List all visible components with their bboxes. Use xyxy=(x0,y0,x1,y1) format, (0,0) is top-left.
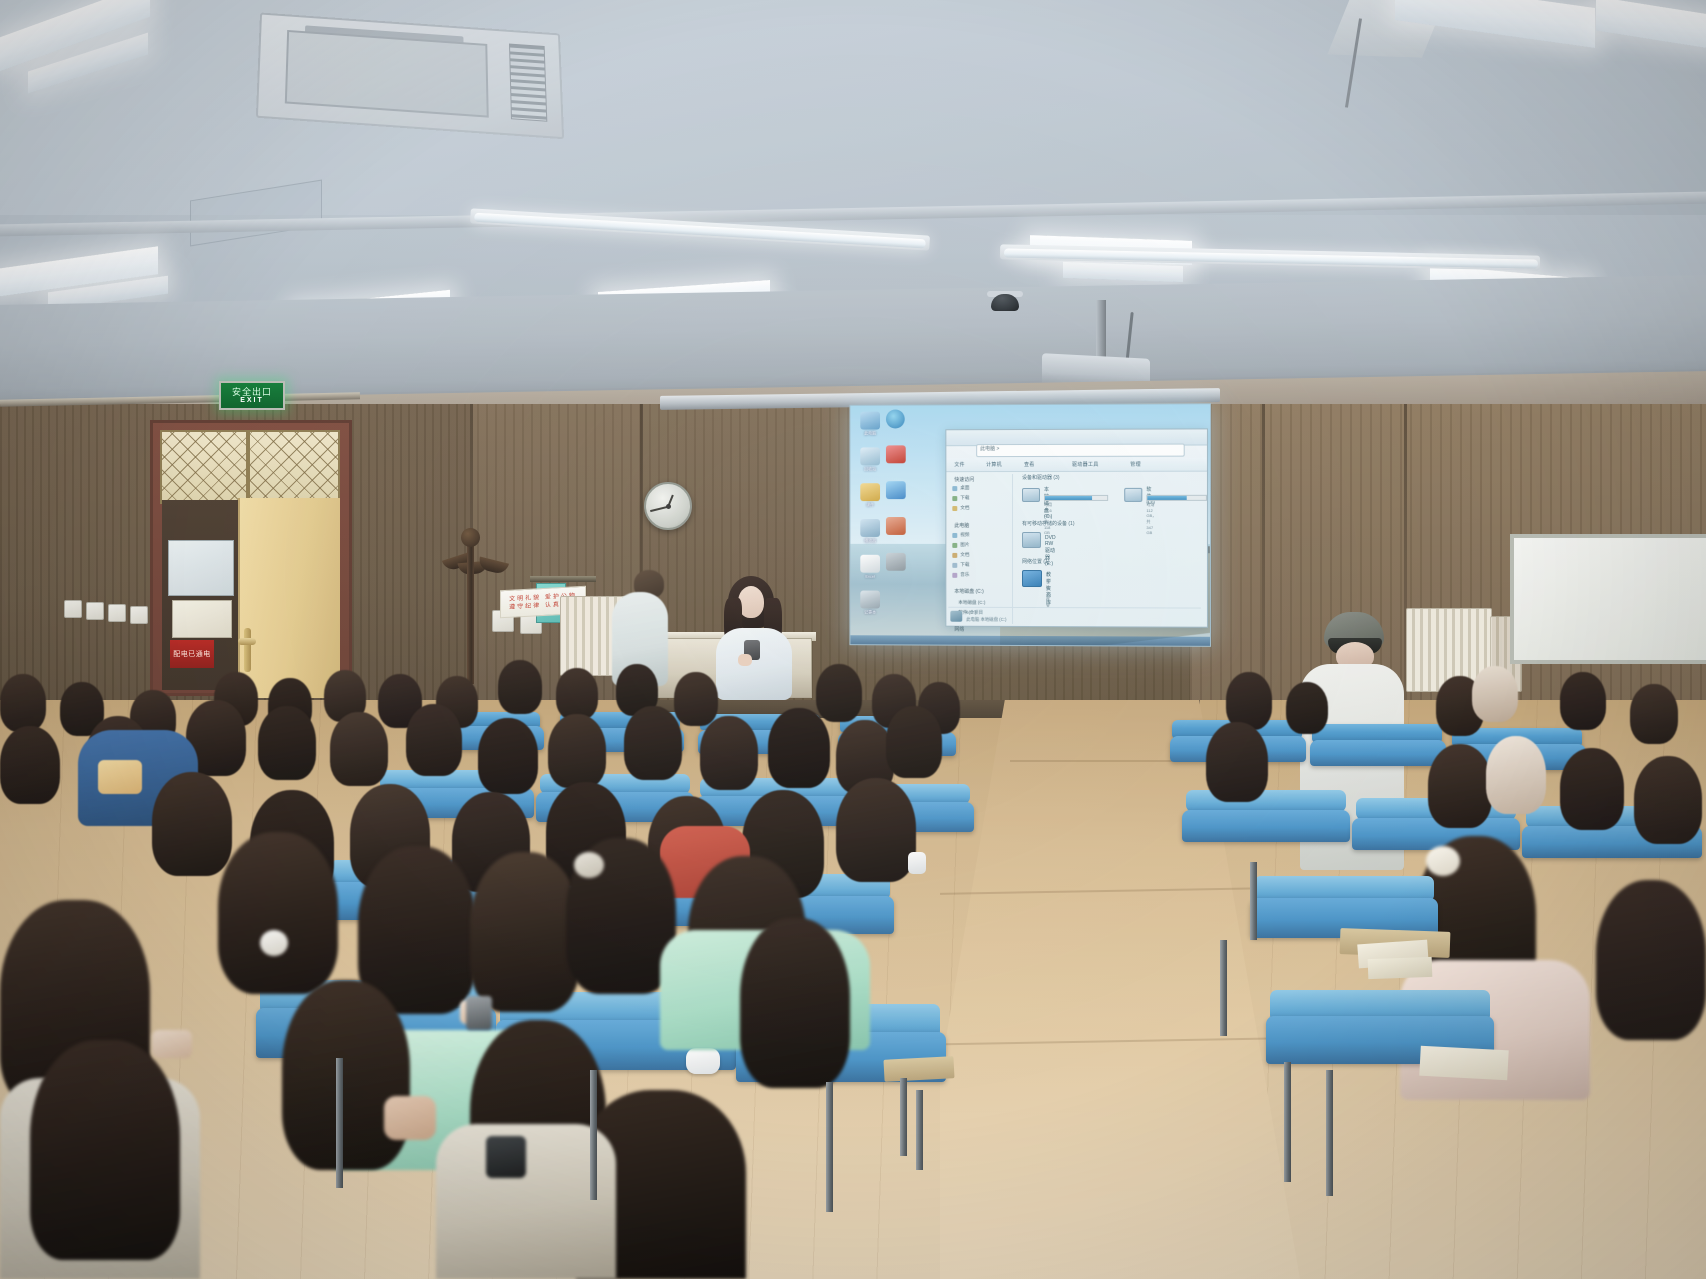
navigation-pane[interactable]: 快速访问 桌面 下载 文档 此电脑 视频 图片 文档 下载 xyxy=(948,474,1013,624)
desk-leg xyxy=(1326,1070,1333,1196)
nav-group-quick-access[interactable]: 快速访问 xyxy=(954,476,974,483)
board-rail xyxy=(530,576,596,582)
nav-item-downloads2[interactable]: 下载 xyxy=(960,562,969,568)
student-head xyxy=(624,706,682,780)
exit-sign: 安全出口 EXIT xyxy=(219,381,285,410)
door-transom-window xyxy=(160,430,340,504)
hair-clip xyxy=(1426,846,1460,876)
hard-drive-icon xyxy=(1022,488,1040,502)
nav-bullet-icon xyxy=(952,486,957,491)
light-switch[interactable] xyxy=(130,606,148,624)
coat-rack-finial xyxy=(461,528,480,547)
seat[interactable] xyxy=(1310,740,1446,766)
qq-icon[interactable] xyxy=(886,445,906,463)
presenter xyxy=(714,576,796,700)
door-red-sign-text: 配电已通电 xyxy=(173,649,211,659)
student-head xyxy=(282,980,410,1170)
paper-sheet xyxy=(1368,957,1433,979)
notice-board xyxy=(168,540,234,596)
ac-grille xyxy=(285,30,489,118)
nav-bullet-icon xyxy=(952,506,957,511)
desk-leg xyxy=(1250,862,1257,940)
clock-center xyxy=(666,504,671,509)
nav-bullet-icon xyxy=(952,553,957,558)
projector-mount-pole xyxy=(1096,300,1106,358)
nav-bullet-icon xyxy=(952,563,957,568)
player-icon[interactable] xyxy=(860,519,880,537)
student-top-cream xyxy=(436,1124,616,1279)
hard-drive-icon xyxy=(1124,488,1142,502)
drive-usage-fill xyxy=(1045,496,1092,500)
nav-bullet-icon xyxy=(952,533,957,538)
desk-top xyxy=(1186,790,1346,812)
ribbon-tab-file[interactable]: 文件 xyxy=(954,461,965,468)
desk-leg xyxy=(1220,940,1227,1036)
student-head xyxy=(700,716,758,790)
student-head xyxy=(0,674,46,732)
student-head xyxy=(1428,744,1492,828)
transom-mullion xyxy=(246,430,250,500)
paper-sheet xyxy=(1419,1046,1508,1081)
student-head xyxy=(1634,756,1702,844)
nav-item-music[interactable]: 音乐 xyxy=(960,572,969,578)
presenter-hand xyxy=(738,654,752,666)
content-pane[interactable]: 设备和驱动器 (3) 本地磁盘 (C:) 可用 28.6 GB，共 118 GB… xyxy=(1016,474,1203,625)
nav-group-network[interactable]: 网络 xyxy=(954,626,964,633)
optical-drive-icon xyxy=(1022,532,1041,548)
student-head xyxy=(406,704,462,776)
student-head xyxy=(1206,722,1268,802)
exit-sign-english: EXIT xyxy=(240,397,264,405)
classroom-door[interactable] xyxy=(238,498,340,698)
drive-subtitle: 系统文件夹 xyxy=(1046,579,1050,609)
earbud-case xyxy=(686,1048,720,1074)
drive-free-space: 可用 28.6 GB，共 118 GB xyxy=(1044,502,1054,535)
desktop-icon-label: 此电脑 xyxy=(857,430,883,436)
wall-clock xyxy=(644,482,692,530)
student-head xyxy=(330,712,388,786)
recycle-bin-icon[interactable] xyxy=(860,447,880,465)
drive-usage-bar xyxy=(1044,495,1108,501)
student-head xyxy=(0,726,60,804)
student-head xyxy=(218,832,338,994)
student-head xyxy=(152,772,232,876)
status-bar: 6 个项目 此电脑 本地磁盘 (C:) xyxy=(948,607,1201,625)
water-bottle xyxy=(908,852,926,874)
desk-leg xyxy=(900,1078,907,1156)
coat-rack xyxy=(467,536,474,684)
ac-vent xyxy=(509,44,547,122)
student-head xyxy=(258,706,316,780)
smartphone xyxy=(466,996,492,1030)
nav-item-downloads[interactable]: 下载 xyxy=(960,495,969,501)
drive-free-space: 可用 112 GB，共 347 GB xyxy=(1146,502,1156,535)
tee-graphic xyxy=(98,760,142,794)
ribbon-tab-view[interactable]: 查看 xyxy=(1024,461,1035,468)
computer-icon[interactable] xyxy=(860,412,880,430)
hair-tie xyxy=(574,852,604,878)
student-head xyxy=(548,714,606,788)
status-detail: 此电脑 本地磁盘 (C:) xyxy=(966,617,1006,623)
smartphone xyxy=(486,1136,526,1178)
student-head xyxy=(816,664,862,722)
desk-leg xyxy=(590,1070,597,1200)
drive-usage-bar xyxy=(1146,495,1207,501)
light-switch[interactable] xyxy=(86,602,104,620)
pdf-icon[interactable] xyxy=(886,517,906,535)
nav-item-videos[interactable]: 视频 xyxy=(960,532,969,538)
student-head xyxy=(30,1040,180,1260)
notes-icon[interactable] xyxy=(860,591,880,609)
status-count: 6 个项目 xyxy=(966,610,983,616)
door-handle[interactable] xyxy=(244,628,251,672)
projection-screen-area: 自由奋斗青春 此电脑 回收站 课件 播放器 Excel 记事本 xyxy=(849,397,1209,645)
desk-leg xyxy=(336,1058,343,1188)
lecture-hall-photo: 安全出口 EXIT 配电已通电 文明礼貌 爱护公物 遵守纪律 认真听讲 xyxy=(0,0,1706,1279)
nav-item-pictures[interactable]: 图片 xyxy=(960,542,969,548)
desktop-icon-label: 回收站 xyxy=(857,466,883,472)
student-head xyxy=(886,706,942,778)
light-switch[interactable] xyxy=(64,600,82,618)
hair-clip xyxy=(260,930,288,956)
nav-bullet-icon xyxy=(952,496,957,501)
projection-screen[interactable]: 自由奋斗青春 此电脑 回收站 课件 播放器 Excel 记事本 xyxy=(849,403,1211,647)
seat[interactable] xyxy=(1182,810,1350,842)
whiteboard xyxy=(1510,534,1706,664)
notice-board xyxy=(172,600,232,638)
student-head xyxy=(1560,672,1606,730)
section-heading-devices: 设备和驱动器 (3) xyxy=(1022,474,1059,481)
door-red-sign: 配电已通电 xyxy=(170,640,214,668)
settings-icon[interactable] xyxy=(886,553,906,571)
student-head xyxy=(1486,736,1546,814)
drive-usage-fill xyxy=(1147,496,1187,500)
student-head xyxy=(1472,666,1518,722)
exit-sign-chinese: 安全出口 xyxy=(232,387,272,397)
student-hand xyxy=(384,1096,436,1140)
nav-bullet-icon xyxy=(952,573,957,578)
student-head xyxy=(674,672,718,726)
student-head xyxy=(1286,682,1328,734)
student-head xyxy=(740,918,850,1088)
desktop-icon-label: 课件 xyxy=(857,502,883,508)
nav-group-this-pc[interactable]: 此电脑 xyxy=(954,522,969,529)
desktop-icon-label: Excel xyxy=(857,574,883,579)
nav-item-desktop[interactable]: 桌面 xyxy=(960,485,969,491)
student-head xyxy=(1630,684,1678,744)
student-head xyxy=(498,660,542,714)
desk-side-panel xyxy=(883,1056,954,1082)
ribbon-tab-computer[interactable]: 计算机 xyxy=(986,461,1002,468)
desktop-icon-label: 播放器 xyxy=(857,538,883,544)
desk-leg xyxy=(826,1082,833,1212)
student-hand xyxy=(152,1030,192,1058)
presenter-shirt xyxy=(716,628,792,700)
network-folder-icon xyxy=(1022,570,1042,587)
browser-icon[interactable] xyxy=(886,481,906,499)
student-head xyxy=(768,708,830,788)
address-bar-value: 此电脑 > xyxy=(980,445,999,452)
student-head xyxy=(470,852,580,1012)
ribbon-tab-manage[interactable]: 管理 xyxy=(1130,461,1141,468)
student-head xyxy=(1560,748,1624,830)
nav-item-documents[interactable]: 文档 xyxy=(960,505,969,511)
air-conditioner-unit xyxy=(256,13,564,140)
file-explorer-window[interactable]: 此电脑 > 文件 计算机 查看 驱动器工具 管理 快速访问 桌面 下载 文档 此… xyxy=(945,428,1208,627)
ribbon-tab-drive-tools[interactable]: 驱动器工具 xyxy=(1072,461,1099,468)
nav-item-disk-c[interactable]: 本地磁盘 (C:) xyxy=(958,600,985,606)
section-heading-removable: 有可移动存储的设备 (1) xyxy=(1022,520,1075,527)
address-bar[interactable] xyxy=(976,444,1185,458)
nav-bullet-icon xyxy=(952,543,957,548)
nav-group-local-disk[interactable]: 本地磁盘 (C:) xyxy=(954,588,984,595)
desktop-icon-column: 此电脑 回收站 课件 播放器 Excel 记事本 xyxy=(854,408,909,643)
student-head xyxy=(556,668,598,720)
dome-security-camera xyxy=(991,294,1019,311)
student-head xyxy=(478,718,538,794)
door-latch[interactable] xyxy=(238,638,256,645)
status-icon xyxy=(950,611,962,622)
folder-icon[interactable] xyxy=(860,483,880,501)
desk-leg xyxy=(916,1090,923,1170)
excel-icon[interactable] xyxy=(860,555,880,573)
windows-taskbar[interactable] xyxy=(850,635,1210,646)
student-head xyxy=(836,778,916,882)
section-heading-network: 网络位置 (1) xyxy=(1022,558,1049,565)
nav-item-documents2[interactable]: 文档 xyxy=(960,552,969,558)
student-head xyxy=(1596,880,1706,1040)
desktop-icon-label: 记事本 xyxy=(857,609,883,615)
wechat-icon[interactable] xyxy=(886,410,905,429)
desk-leg xyxy=(1284,1062,1291,1182)
light-switch[interactable] xyxy=(108,604,126,622)
